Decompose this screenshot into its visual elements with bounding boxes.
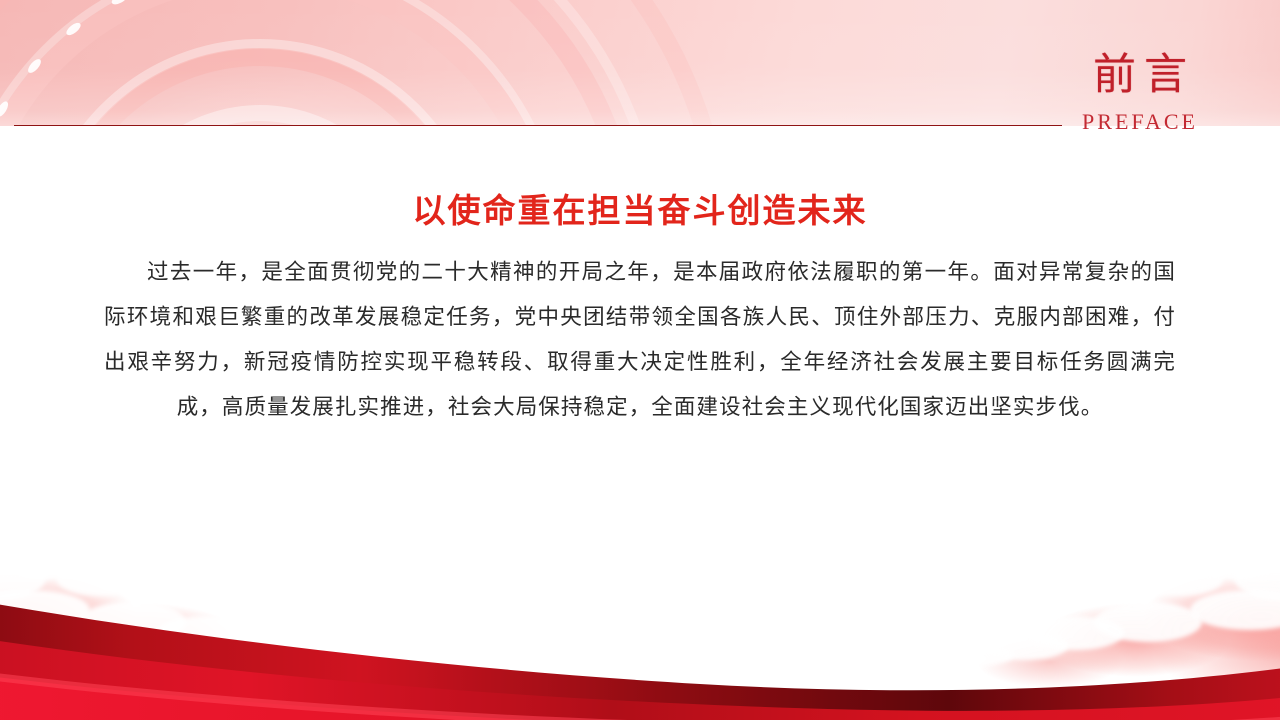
page-title: 以使命重在担当奋斗创造未来	[104, 190, 1176, 234]
red-ribbon-icon	[0, 520, 1280, 720]
section-title-en: PREFACE	[1082, 110, 1198, 134]
header-divider	[14, 125, 1062, 126]
top-banner	[0, 0, 1280, 126]
content-area: 以使命重在担当奋斗创造未来 过去一年，是全面贯彻党的二十大精神的开局之年，是本届…	[104, 190, 1176, 430]
bottom-decoration	[0, 520, 1280, 720]
body-paragraph: 过去一年，是全面贯彻党的二十大精神的开局之年，是本届政府依法履职的第一年。面对异…	[104, 250, 1176, 430]
banner-fade	[0, 0, 1280, 126]
slide: 前言 PREFACE 以使命重在担当奋斗创造未来 过去一年，是全面贯彻党的二十大…	[0, 0, 1280, 720]
section-title-cn: 前言	[1093, 53, 1195, 99]
